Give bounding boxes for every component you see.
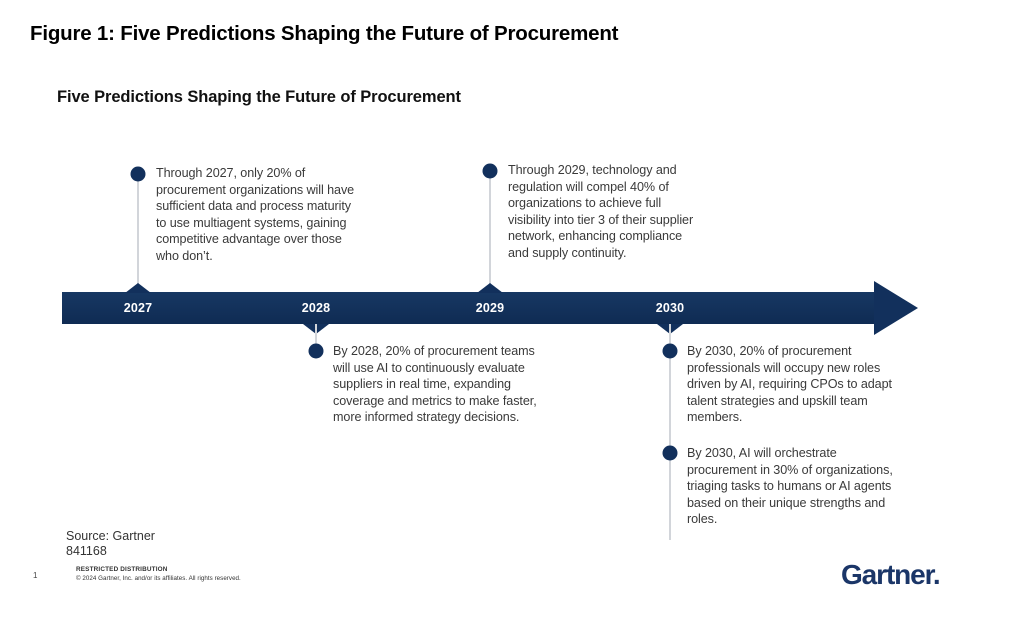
- prediction-text-2030-orchestrate: By 2030, AI will orchestrate procurement…: [687, 445, 899, 528]
- slide-title: Five Predictions Shaping the Future of P…: [57, 88, 461, 107]
- prediction-text-2027: Through 2027, only 20% of procurement or…: [156, 165, 364, 265]
- connector-dot-2030-roles: [663, 344, 678, 359]
- connector-dot-2028: [309, 344, 324, 359]
- connector-dot-2030-orchestrate: [663, 446, 678, 461]
- gartner-logo: Gartner.: [841, 559, 940, 591]
- prediction-text-2028: By 2028, 20% of procurement teams will u…: [333, 343, 545, 426]
- restricted-distribution-label: RESTRICTED DISTRIBUTION: [76, 566, 168, 573]
- page-number: 1: [33, 571, 37, 580]
- prediction-text-2029: Through 2029, technology and regulation …: [508, 162, 704, 262]
- timeline-bar-body: [62, 292, 877, 324]
- figure-caption: Figure 1: Five Predictions Shaping the F…: [30, 22, 618, 46]
- timeline-year-2027: 2027: [124, 292, 153, 324]
- source-block: Source: Gartner 841168: [66, 529, 155, 559]
- timeline-arrow-head-icon: [874, 281, 918, 335]
- connector-dot-2027: [131, 167, 146, 182]
- copyright-notice: © 2024 Gartner, Inc. and/or its affiliat…: [76, 575, 241, 582]
- timeline-bar: 2027 2028 2029 2030: [62, 292, 918, 324]
- connector-dot-2029: [483, 164, 498, 179]
- source-label: Source: Gartner: [66, 529, 155, 544]
- prediction-text-2030-roles: By 2030, 20% of procurement professional…: [687, 343, 893, 426]
- timeline-year-2030: 2030: [656, 292, 685, 324]
- gartner-logo-text: Gartner: [841, 559, 933, 590]
- slide-canvas: Five Predictions Shaping the Future of P…: [0, 68, 1024, 629]
- source-doc-id: 841168: [66, 544, 155, 559]
- timeline-year-2028: 2028: [302, 292, 331, 324]
- timeline-year-2029: 2029: [476, 292, 505, 324]
- gartner-logo-mark: .: [933, 559, 940, 590]
